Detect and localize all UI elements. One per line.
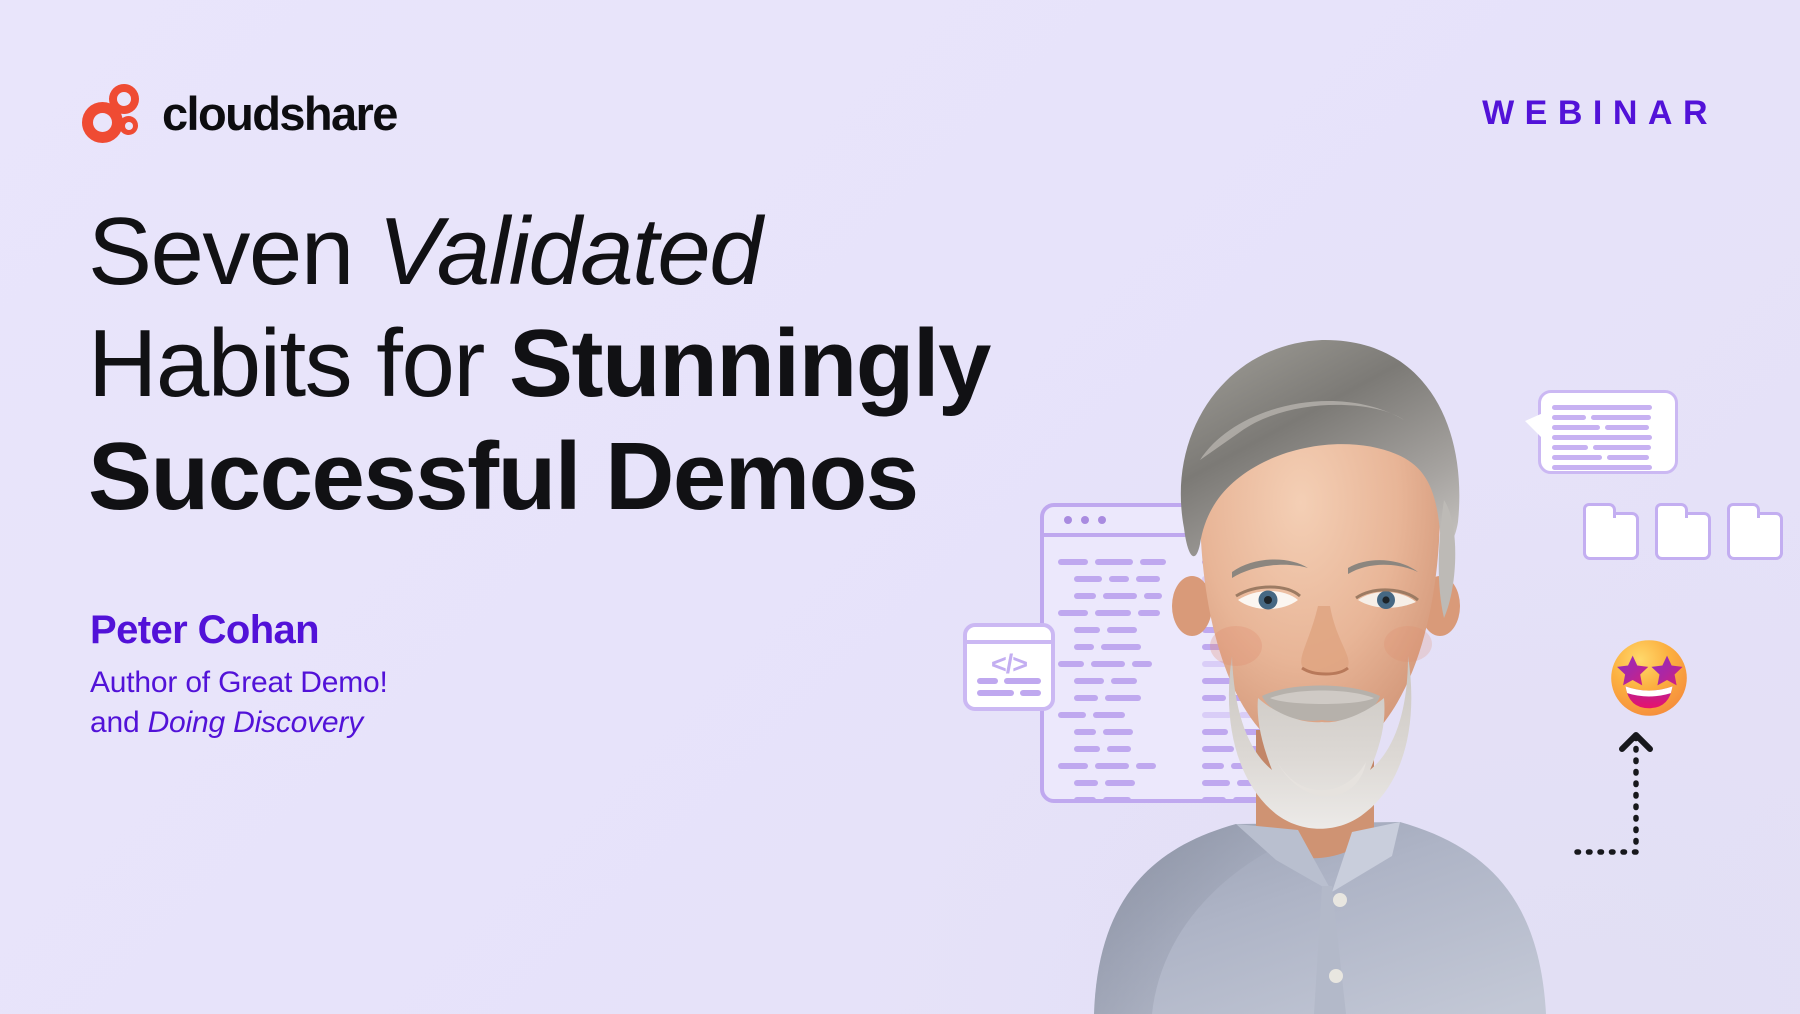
headline-text-successful-demos: Successful Demos (88, 423, 918, 530)
star-struck-emoji-icon (1607, 636, 1691, 720)
folder-icon (1655, 512, 1711, 560)
code-snippet-badge: </> (963, 623, 1055, 711)
folder-icon (1583, 512, 1639, 560)
speaker-role-line-2: and Doing Discovery (90, 703, 388, 743)
headline-text-validated: Validated (378, 198, 761, 305)
webinar-promo-banner: cloudshare WEBINAR (0, 0, 1800, 1014)
speaker-name: Peter Cohan (90, 608, 388, 653)
speaker-role-and: and (90, 706, 148, 739)
dotted-up-arrow-icon (1570, 716, 1760, 876)
headline-line-3: Successful Demos (88, 421, 1168, 533)
speaker-portrait-peter-cohan (1040, 300, 1580, 1014)
page-title: Seven Validated Habits for Stunningly Su… (88, 196, 1168, 533)
folder-icon (1727, 512, 1783, 560)
headline-line-1: Seven Validated (88, 196, 1168, 308)
headline-text-habits-for: Habits for (88, 310, 509, 417)
headline-line-2: Habits for Stunningly (88, 308, 1168, 420)
speaker-role-line-1: Author of Great Demo! (90, 663, 388, 703)
headline-text-seven: Seven (88, 198, 378, 305)
code-tag-glyph: </> (967, 649, 1051, 680)
folder-icon-group (1583, 512, 1783, 560)
speaker-info: Peter Cohan Author of Great Demo! and Do… (90, 608, 388, 742)
speaker-book-title: Doing Discovery (148, 706, 363, 739)
headline-text-stunningly: Stunningly (509, 310, 990, 417)
